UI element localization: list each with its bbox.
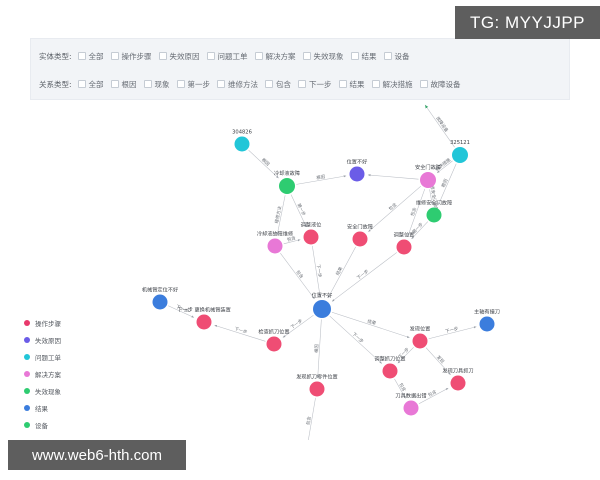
entity-type-option-label: 失效原因: [170, 51, 200, 62]
checkbox-icon[interactable]: [111, 80, 119, 88]
relation-type-filter-row: 关系类型: 全部根因现象第一步维修方法包含下一步结果解决措施故障设备: [31, 73, 569, 95]
graph-node[interactable]: [451, 376, 466, 391]
legend-item-label: 解决方案: [35, 369, 61, 379]
legend-item-label: 结果: [35, 403, 48, 413]
graph-node-label: 调整位置: [394, 231, 415, 239]
graph-node[interactable]: [420, 172, 436, 188]
graph-node[interactable]: [310, 382, 325, 397]
graph-edge-label: 下一步: [290, 318, 305, 331]
graph-node-label: 发现刀具抓刀: [442, 367, 473, 375]
graph-edge: [368, 175, 419, 179]
legend-color-dot-icon: [24, 388, 30, 394]
filter-panel: 实体类型: 全部操作步骤失效原因问题工单解决方案失效现象结果设备 关系类型: 全…: [30, 38, 570, 100]
relation-type-option-8[interactable]: 解决措施: [372, 79, 413, 90]
checkbox-icon[interactable]: [111, 52, 119, 60]
relation-type-option-label: 解决措施: [383, 79, 413, 90]
relation-type-option-7[interactable]: 结果: [339, 79, 365, 90]
graph-node[interactable]: [197, 315, 212, 330]
graph-node-label: 维修安全门故障: [416, 199, 452, 207]
checkbox-icon[interactable]: [420, 80, 428, 88]
entity-type-option-1[interactable]: 操作步骤: [111, 51, 152, 62]
relation-type-option-label: 第一步: [188, 79, 211, 90]
entity-type-label: 实体类型:: [39, 51, 72, 62]
graph-edge-label: 下一步: [351, 331, 365, 345]
graph-node[interactable]: [350, 167, 365, 182]
graph-edge-label: 结果: [366, 317, 377, 327]
graph-node[interactable]: [383, 364, 398, 379]
entity-type-filter-row: 实体类型: 全部操作步骤失效原因问题工单解决方案失效现象结果设备: [31, 45, 569, 67]
checkbox-icon[interactable]: [217, 80, 225, 88]
legend-item-label: 失效原因: [35, 335, 61, 345]
graph-node[interactable]: [268, 239, 283, 254]
checkbox-icon[interactable]: [339, 80, 347, 88]
graph-node[interactable]: [404, 401, 419, 416]
graph-edge-label: 包含: [409, 206, 419, 217]
relation-type-option-label: 根因: [122, 79, 137, 90]
graph-node-label: 发现位置: [410, 325, 431, 333]
legend-item-label: 设备: [35, 420, 48, 430]
legend-item-2[interactable]: 问题工单: [24, 352, 61, 362]
entity-type-option-7[interactable]: 设备: [384, 51, 410, 62]
graph-edge-label: 下一步: [356, 268, 371, 281]
graph-edge-label: 包含: [387, 201, 399, 212]
graph-node[interactable]: [279, 178, 295, 194]
checkbox-icon[interactable]: [384, 52, 392, 60]
tg-banner-text: TG: MYYJJPP: [470, 13, 585, 33]
checkbox-icon[interactable]: [144, 80, 152, 88]
entity-type-option-label: 解决方案: [266, 51, 296, 62]
tg-banner: TG: MYYJJPP: [455, 6, 600, 39]
graph-edge-label: 发现: [435, 354, 446, 366]
graph-node-label: 刀具数据出错: [395, 392, 426, 400]
graph-node[interactable]: [267, 337, 282, 352]
graph-edge-label: 包含: [427, 388, 439, 399]
legend-item-4[interactable]: 失效现象: [24, 386, 61, 396]
legend-item-label: 失效现象: [35, 386, 61, 396]
graph-node-label: 位置不好: [347, 158, 368, 166]
watermark: www.web6-hth.com: [8, 440, 186, 470]
legend-item-label: 问题工单: [35, 352, 61, 362]
entity-type-option-label: 结果: [362, 51, 377, 62]
relation-type-option-3[interactable]: 第一步: [177, 79, 211, 90]
legend-item-6[interactable]: 设备: [24, 420, 61, 430]
relation-type-option-4[interactable]: 维修方法: [217, 79, 258, 90]
relation-type-option-label: 故障设备: [431, 79, 461, 90]
relation-type-option-5[interactable]: 包含: [265, 79, 291, 90]
graph-node[interactable]: [480, 317, 495, 332]
entity-type-option-2[interactable]: 失效原因: [159, 51, 200, 62]
graph-edge-label: 故障设备: [434, 115, 450, 134]
relation-type-option-9[interactable]: 故障设备: [420, 79, 461, 90]
graph-node-label: 调整液位: [301, 221, 322, 229]
graph-node[interactable]: [153, 295, 168, 310]
graph-svg[interactable]: 根因解决措施根因根因维修方法第一步维修安全门故障包含包含第一步包含包含下一步结果…: [0, 100, 600, 440]
graph-edge-label: 根因: [313, 343, 321, 353]
entity-type-option-3[interactable]: 问题工单: [207, 51, 248, 62]
checkbox-icon[interactable]: [303, 52, 311, 60]
graph-node-label: 位置不好: [312, 291, 333, 299]
legend-item-1[interactable]: 失效原因: [24, 335, 61, 345]
legend-color-dot-icon: [24, 371, 30, 377]
relation-type-option-label: 下一步: [309, 79, 332, 90]
relation-type-option-6[interactable]: 下一步: [298, 79, 332, 90]
graph-node[interactable]: [427, 208, 442, 223]
graph-node-label: 下一步 更换机械臂装置: [177, 306, 231, 314]
graph-node-label: 冷却液故障: [274, 169, 300, 177]
legend-item-0[interactable]: 操作步骤: [24, 318, 61, 328]
legend-item-5[interactable]: 结果: [24, 403, 61, 413]
graph-node[interactable]: [304, 230, 319, 245]
graph-edge-label: 第一步: [295, 202, 307, 217]
graph-node-label: 安全门故障: [347, 223, 373, 231]
graph-edge-label: 包含: [397, 382, 408, 394]
relation-type-label: 关系类型:: [39, 79, 72, 90]
entity-type-option-label: 操作步骤: [122, 51, 152, 62]
checkbox-icon[interactable]: [207, 52, 215, 60]
graph-node-label: 调整抓刀位置: [374, 355, 405, 363]
graph-node[interactable]: [313, 300, 331, 318]
graph-node-label: 机械臂定位不好: [142, 286, 178, 294]
checkbox-icon[interactable]: [298, 80, 306, 88]
graph-edge-label: 根因: [316, 173, 326, 181]
relation-type-option-label: 全部: [89, 79, 104, 90]
graph-edge-label: 包含: [294, 269, 305, 281]
relation-type-option-label: 现象: [155, 79, 170, 90]
legend-color-dot-icon: [24, 405, 30, 411]
checkbox-icon[interactable]: [177, 80, 185, 88]
entity-type-option-6[interactable]: 结果: [351, 51, 377, 62]
graph-edge-label: 下一步: [445, 326, 460, 335]
entity-type-option-5[interactable]: 失效现象: [303, 51, 344, 62]
graph-node[interactable]: [452, 147, 468, 163]
graph-node-label: 检查抓刀位置: [258, 328, 289, 336]
entity-type-option-label: 设备: [395, 51, 410, 62]
graph-edge-label: 根因: [260, 156, 272, 168]
legend-item-3[interactable]: 解决方案: [24, 369, 61, 379]
entity-type-option-0[interactable]: 全部: [78, 51, 104, 62]
relation-type-option-label: 包含: [276, 79, 291, 90]
checkbox-icon[interactable]: [255, 52, 263, 60]
graph-node-label: 安全门故障: [415, 163, 441, 171]
graph-node-label: 主轴有撞刀: [474, 308, 500, 316]
knowledge-graph-canvas[interactable]: 根因解决措施根因根因维修方法第一步维修安全门故障包含包含第一步包含包含下一步结果…: [0, 100, 600, 440]
entity-type-option-4[interactable]: 解决方案: [255, 51, 296, 62]
entity-type-options: 全部操作步骤失效原因问题工单解决方案失效现象结果设备: [78, 47, 417, 65]
graph-edge-label: 下一步: [315, 264, 323, 279]
checkbox-icon[interactable]: [372, 80, 380, 88]
entity-type-option-label: 失效现象: [314, 51, 344, 62]
graph-edge-label: 结果: [334, 265, 345, 277]
entity-type-option-label: 问题工单: [218, 51, 248, 62]
relation-type-option-2[interactable]: 现象: [144, 79, 170, 90]
legend-color-dot-icon: [24, 354, 30, 360]
legend-color-dot-icon: [24, 337, 30, 343]
relation-type-option-label: 维修方法: [228, 79, 258, 90]
checkbox-icon[interactable]: [159, 52, 167, 60]
graph-node[interactable]: [235, 137, 250, 152]
graph-node-label: 304826: [232, 130, 252, 136]
graph-node[interactable]: [413, 334, 428, 349]
graph-node-label: 冷却液故障维修: [257, 230, 294, 238]
graph-edge-label: 包含: [304, 415, 312, 425]
checkbox-icon[interactable]: [78, 80, 86, 88]
graph-node[interactable]: [397, 240, 412, 255]
legend-color-dot-icon: [24, 422, 30, 428]
relation-type-option-0[interactable]: 全部: [78, 79, 104, 90]
relation-type-option-label: 结果: [350, 79, 365, 90]
relation-type-option-1[interactable]: 根因: [111, 79, 137, 90]
graph-node[interactable]: [353, 232, 368, 247]
relation-type-options: 全部根因现象第一步维修方法包含下一步结果解决措施故障设备: [78, 75, 468, 93]
checkbox-icon[interactable]: [265, 80, 273, 88]
checkbox-icon[interactable]: [351, 52, 359, 60]
graph-edge-label: 根因: [440, 177, 450, 188]
graph-edge-label: 维修方法: [273, 205, 283, 224]
entity-type-option-label: 全部: [89, 51, 104, 62]
checkbox-icon[interactable]: [78, 52, 86, 60]
graph-node-label: 325121: [450, 140, 470, 146]
watermark-text: www.web6-hth.com: [32, 447, 162, 464]
graph-node-label: 发现抓刀零件位置: [296, 373, 338, 381]
legend-item-label: 操作步骤: [35, 318, 61, 328]
legend: 操作步骤失效原因问题工单解决方案失效现象结果设备: [24, 318, 61, 437]
graph-edge-label: 下一步: [234, 326, 249, 336]
graph-node-label-layer: 304826325121冷却液故障位置不好安全门故障维修安全门故障冷却液故障维修…: [142, 130, 500, 400]
legend-color-dot-icon: [24, 320, 30, 326]
